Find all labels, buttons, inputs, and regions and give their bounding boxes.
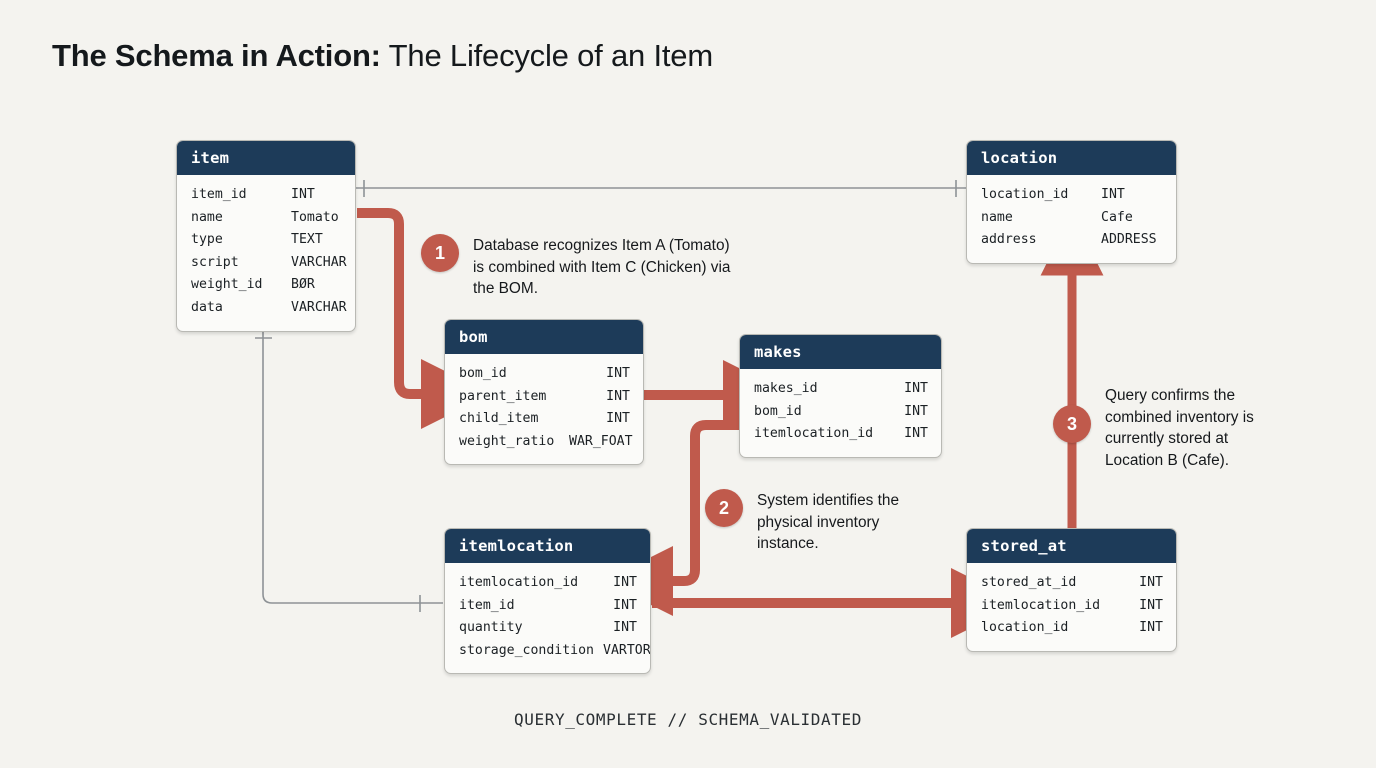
table-row: type TEXT bbox=[191, 229, 342, 252]
step-annotation-2: 2 System identifies the physical invento… bbox=[705, 489, 935, 555]
diagram-canvas: The Schema in Action: The Lifecycle of a… bbox=[0, 0, 1376, 768]
field-name: weight_ratio bbox=[459, 431, 569, 454]
table-item-title: item bbox=[177, 141, 355, 175]
table-row: weight_id BØR bbox=[191, 274, 342, 297]
field-type: INT bbox=[904, 401, 928, 424]
table-row: makes_id INT bbox=[754, 378, 928, 401]
step-badge-2: 2 bbox=[705, 489, 743, 527]
field-name: itemlocation_id bbox=[754, 423, 878, 446]
field-type: INT bbox=[613, 595, 637, 618]
field-type: ADDRESS bbox=[1091, 229, 1175, 252]
flow-item-to-bom bbox=[357, 213, 425, 394]
field-name: script bbox=[191, 252, 279, 275]
field-name: quantity bbox=[459, 617, 603, 640]
field-type: INT bbox=[1139, 617, 1163, 640]
field-name: itemlocation_id bbox=[459, 572, 603, 595]
table-row: storage_condition VARTOR bbox=[459, 640, 637, 663]
field-type: VARTOR bbox=[603, 640, 651, 663]
field-type: INT bbox=[613, 572, 637, 595]
step-badge-3: 3 bbox=[1053, 405, 1091, 443]
table-itemlocation-title: itemlocation bbox=[445, 529, 650, 563]
field-type: INT bbox=[279, 184, 356, 207]
step-text-2: System identifies the physical inventory… bbox=[757, 489, 935, 555]
field-name: itemlocation_id bbox=[981, 595, 1113, 618]
table-row: address ADDRESS bbox=[981, 229, 1163, 252]
table-item-fields: item_id INT name Tomato type TEXT script… bbox=[177, 175, 355, 331]
table-row: location_id INT bbox=[981, 184, 1163, 207]
field-type: VARCHAR bbox=[279, 297, 356, 320]
field-type: INT bbox=[1139, 572, 1163, 595]
field-name: type bbox=[191, 229, 279, 252]
table-row: location_id INT bbox=[981, 617, 1163, 640]
step-text-1: Database recognizes Item A (Tomato) is c… bbox=[473, 234, 731, 300]
field-name: parent_item bbox=[459, 386, 569, 409]
table-row: bom_id INT bbox=[754, 401, 928, 424]
table-row: item_id INT bbox=[191, 184, 342, 207]
table-row: itemlocation_id INT bbox=[754, 423, 928, 446]
table-row: stored_at_id INT bbox=[981, 572, 1163, 595]
table-row: script VARCHAR bbox=[191, 252, 342, 275]
table-makes-fields: makes_id INT bom_id INT itemlocation_id … bbox=[740, 369, 941, 457]
field-type: VARCHAR bbox=[279, 252, 356, 275]
table-makes-title: makes bbox=[740, 335, 941, 369]
table-row: itemlocation_id INT bbox=[981, 595, 1163, 618]
step-annotation-3: 3 Query confirms the combined inventory … bbox=[1053, 384, 1283, 471]
field-name: item_id bbox=[191, 184, 279, 207]
field-type: Tomato bbox=[279, 207, 356, 230]
step-text-3: Query confirms the combined inventory is… bbox=[1105, 384, 1283, 471]
table-row: quantity INT bbox=[459, 617, 637, 640]
table-row: weight_ratio WAR_FOAT bbox=[459, 431, 630, 454]
table-location[interactable]: location location_id INT name Cafe addre… bbox=[966, 140, 1177, 264]
footer-status: QUERY_COMPLETE // SCHEMA_VALIDATED bbox=[0, 710, 1376, 729]
table-stored-at[interactable]: stored_at stored_at_id INT itemlocation_… bbox=[966, 528, 1177, 652]
field-name: storage_condition bbox=[459, 640, 603, 663]
field-type: INT bbox=[606, 408, 630, 431]
field-type: INT bbox=[1139, 595, 1163, 618]
field-type: INT bbox=[606, 386, 630, 409]
field-name: location_id bbox=[981, 617, 1113, 640]
field-name: child_item bbox=[459, 408, 569, 431]
table-row: item_id INT bbox=[459, 595, 637, 618]
field-type: INT bbox=[904, 378, 928, 401]
table-itemlocation-fields: itemlocation_id INT item_id INT quantity… bbox=[445, 563, 650, 673]
table-location-fields: location_id INT name Cafe address ADDRES… bbox=[967, 175, 1176, 263]
field-type: TEXT bbox=[279, 229, 356, 252]
field-name: address bbox=[981, 229, 1091, 252]
step-annotation-1: 1 Database recognizes Item A (Tomato) is… bbox=[421, 234, 731, 300]
table-row: name Tomato bbox=[191, 207, 342, 230]
field-type: INT bbox=[606, 363, 630, 386]
field-type: Cafe bbox=[1091, 207, 1175, 230]
table-row: itemlocation_id INT bbox=[459, 572, 637, 595]
table-itemlocation[interactable]: itemlocation itemlocation_id INT item_id… bbox=[444, 528, 651, 674]
field-name: bom_id bbox=[459, 363, 569, 386]
table-bom-fields: bom_id INT parent_item INT child_item IN… bbox=[445, 354, 643, 464]
table-bom-title: bom bbox=[445, 320, 643, 354]
field-type: INT bbox=[904, 423, 928, 446]
table-location-title: location bbox=[967, 141, 1176, 175]
field-name: item_id bbox=[459, 595, 603, 618]
table-row: child_item INT bbox=[459, 408, 630, 431]
field-name: stored_at_id bbox=[981, 572, 1113, 595]
field-type: INT bbox=[613, 617, 637, 640]
table-row: bom_id INT bbox=[459, 363, 630, 386]
table-row: name Cafe bbox=[981, 207, 1163, 230]
table-bom[interactable]: bom bom_id INT parent_item INT child_ite… bbox=[444, 319, 644, 465]
table-makes[interactable]: makes makes_id INT bom_id INT itemlocati… bbox=[739, 334, 942, 458]
step-badge-1: 1 bbox=[421, 234, 459, 272]
table-row: data VARCHAR bbox=[191, 297, 342, 320]
field-name: name bbox=[191, 207, 279, 230]
field-name: data bbox=[191, 297, 279, 320]
field-name: makes_id bbox=[754, 378, 878, 401]
field-name: name bbox=[981, 207, 1091, 230]
field-name: weight_id bbox=[191, 274, 279, 297]
table-stored-at-title: stored_at bbox=[967, 529, 1176, 563]
field-type: INT bbox=[1091, 184, 1175, 207]
table-item[interactable]: item item_id INT name Tomato type TEXT s… bbox=[176, 140, 356, 332]
relation-item-itemlocation bbox=[255, 322, 443, 612]
field-type: WAR_FOAT bbox=[569, 431, 633, 454]
field-type: BØR bbox=[279, 274, 356, 297]
table-stored-at-fields: stored_at_id INT itemlocation_id INT loc… bbox=[967, 563, 1176, 651]
field-name: bom_id bbox=[754, 401, 878, 424]
field-name: location_id bbox=[981, 184, 1091, 207]
table-row: parent_item INT bbox=[459, 386, 630, 409]
relation-item-location bbox=[356, 180, 966, 197]
